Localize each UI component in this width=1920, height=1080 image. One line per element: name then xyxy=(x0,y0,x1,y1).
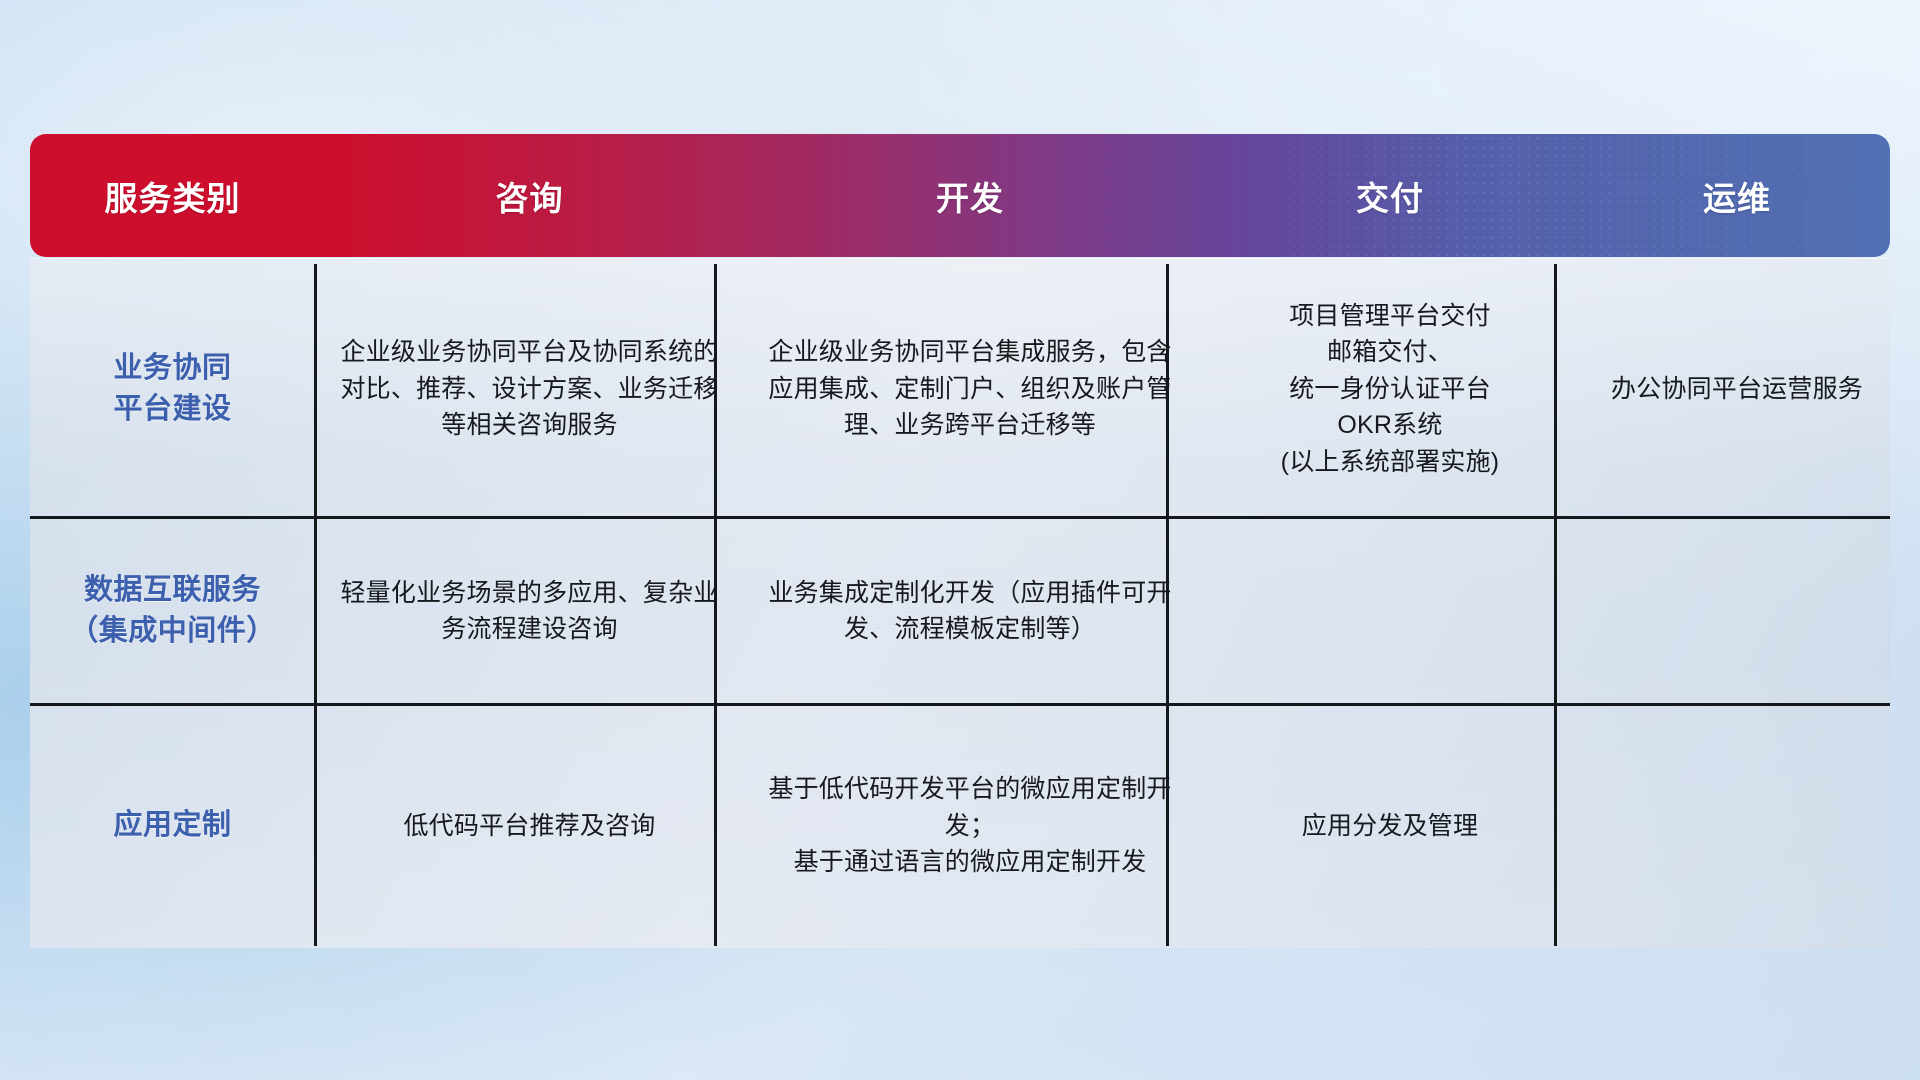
row-development-cell: 业务集成定制化开发（应用插件可开发、流程模板定制等） xyxy=(744,519,1196,703)
row-consulting-cell: 企业级业务协同平台及协同系统的对比、推荐、设计方案、业务迁移等相关咨询服务 xyxy=(315,262,744,516)
row-category-label: 业务协同 平台建设 xyxy=(30,262,315,516)
row-delivery-cell: 应用分发及管理 xyxy=(1196,706,1584,946)
row-consulting-cell: 低代码平台推荐及咨询 xyxy=(315,706,744,946)
column-divider-4 xyxy=(1554,264,1557,946)
row-category-label: 数据互联服务 （集成中间件） xyxy=(30,519,315,703)
table-row: 应用定制 低代码平台推荐及咨询 基于低代码开发平台的微应用定制开发； 基于通过语… xyxy=(30,706,1890,946)
row-development-cell: 企业级业务协同平台集成服务，包含应用集成、定制门户、组织及账户管理、业务跨平台迁… xyxy=(744,262,1196,516)
row-delivery-cell: 项目管理平台交付 邮箱交付、 统一身份认证平台 OKR系统 (以上系统部署实施) xyxy=(1196,262,1584,516)
column-header-category: 服务类别 xyxy=(30,172,315,220)
table-header-row: 服务类别 咨询 开发 交付 运维 xyxy=(30,134,1890,257)
column-header-delivery: 交付 xyxy=(1196,172,1584,220)
row-development-cell: 基于低代码开发平台的微应用定制开发； 基于通过语言的微应用定制开发 xyxy=(744,706,1196,946)
table-row: 数据互联服务 （集成中间件） 轻量化业务场景的多应用、复杂业务流程建设咨询 业务… xyxy=(30,519,1890,703)
row-category-label: 应用定制 xyxy=(30,706,315,946)
table-row: 业务协同 平台建设 企业级业务协同平台及协同系统的对比、推荐、设计方案、业务迁移… xyxy=(30,262,1890,516)
column-header-consulting: 咨询 xyxy=(315,172,744,220)
column-header-development: 开发 xyxy=(744,172,1196,220)
column-divider-1 xyxy=(314,264,317,946)
row-operations-cell: 办公协同平台运营服务 xyxy=(1584,262,1890,516)
column-divider-3 xyxy=(1166,264,1169,946)
row-operations-cell xyxy=(1584,519,1890,703)
row-operations-cell xyxy=(1584,706,1890,946)
row-consulting-cell: 轻量化业务场景的多应用、复杂业务流程建设咨询 xyxy=(315,519,744,703)
column-header-operations: 运维 xyxy=(1584,172,1890,220)
column-divider-2 xyxy=(714,264,717,946)
service-matrix-table: 服务类别 咨询 开发 交付 运维 业务协同 平台建设 企业级业务协同平台及协同系… xyxy=(30,134,1890,948)
row-divider-2 xyxy=(30,703,1890,706)
row-divider-1 xyxy=(30,516,1890,519)
row-delivery-cell xyxy=(1196,519,1584,703)
